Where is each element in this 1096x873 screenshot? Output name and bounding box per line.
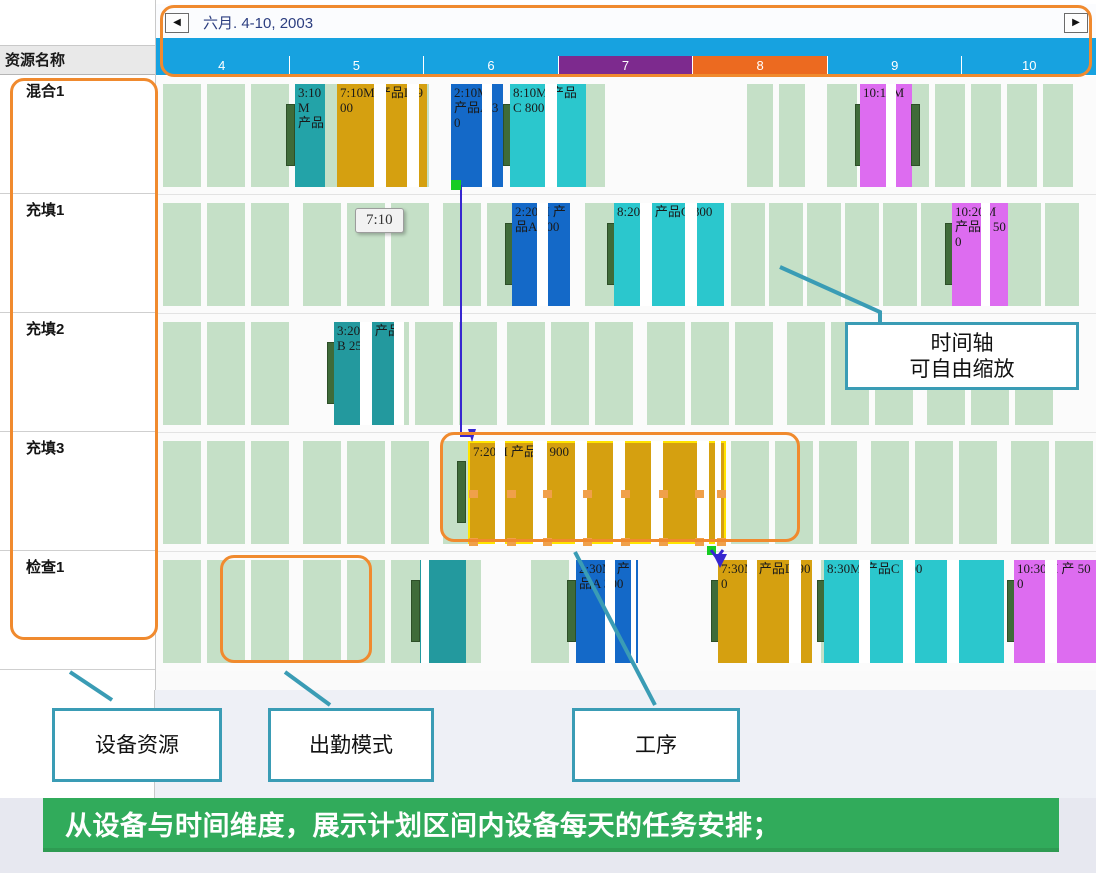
shift-bar bbox=[1043, 84, 1073, 187]
highlight-operation-task bbox=[440, 432, 800, 542]
shift-bar bbox=[769, 203, 803, 306]
shift-bar bbox=[531, 560, 569, 663]
task-label: 2:10M 产品A 30 bbox=[454, 85, 502, 130]
shift-bar bbox=[251, 84, 289, 187]
shift-bar bbox=[871, 441, 909, 544]
shift-bar bbox=[459, 322, 497, 425]
setup-marker bbox=[911, 104, 920, 166]
shift-bar bbox=[303, 203, 341, 306]
shift-bar bbox=[1007, 84, 1037, 187]
shift-bar bbox=[1045, 203, 1079, 306]
shift-bar bbox=[731, 203, 765, 306]
task-label: 8:30M 产品C 800 bbox=[827, 561, 1003, 576]
shift-bar bbox=[827, 84, 857, 187]
callout-attendance-note: 出勤模式 bbox=[268, 708, 434, 782]
summary-banner-text: 从设备与时间维度，展示计划区间内设备每天的任务安排； bbox=[65, 804, 780, 843]
summary-banner: 从设备与时间维度，展示计划区间内设备每天的任务安排； bbox=[43, 798, 1059, 848]
shift-bar bbox=[1007, 203, 1041, 306]
setup-marker bbox=[567, 580, 576, 642]
task-bar[interactable]: 10:20M 产品C 500 bbox=[952, 203, 1008, 306]
shift-bar bbox=[507, 322, 545, 425]
shift-bar bbox=[391, 441, 429, 544]
shift-bar bbox=[163, 322, 201, 425]
highlight-resource-column bbox=[10, 78, 158, 640]
shift-bar bbox=[551, 322, 589, 425]
time-tooltip: 7:10 bbox=[355, 208, 404, 233]
callout-operation-note: 工序 bbox=[572, 708, 740, 782]
task-bar[interactable]: 8:20M 产品C 800 bbox=[614, 203, 724, 306]
resource-column-header: 资源名称 bbox=[0, 45, 155, 75]
shift-bar bbox=[595, 322, 633, 425]
shift-bar bbox=[585, 84, 605, 187]
callout-timeline-line1: 时间轴 bbox=[931, 330, 994, 356]
shift-bar bbox=[303, 441, 341, 544]
shift-bar bbox=[415, 322, 453, 425]
shift-bar bbox=[207, 203, 245, 306]
shift-bar bbox=[163, 441, 201, 544]
shift-bar bbox=[163, 203, 201, 306]
shift-bar bbox=[251, 203, 289, 306]
summary-banner-base bbox=[43, 848, 1059, 852]
highlight-attendance-pattern bbox=[220, 555, 372, 663]
shift-bar bbox=[883, 203, 917, 306]
shift-bar bbox=[1011, 441, 1049, 544]
shift-bar bbox=[691, 322, 729, 425]
shift-bar bbox=[647, 322, 685, 425]
callout-timeline-note: 时间轴 可自由缩放 bbox=[845, 322, 1079, 390]
gantt-row-1[interactable]: 3:10M 产品 7:10M 产品D 900 2:10M 产品A 30 8:10… bbox=[155, 76, 1096, 195]
callout-timeline-line2: 可自由缩放 bbox=[910, 356, 1015, 382]
shift-bar bbox=[807, 203, 841, 306]
shift-bar bbox=[779, 84, 805, 187]
shift-bar bbox=[163, 560, 201, 663]
shift-bar bbox=[971, 84, 1001, 187]
shift-bar bbox=[747, 84, 773, 187]
setup-marker bbox=[286, 104, 295, 166]
shift-bar bbox=[959, 441, 997, 544]
task-bar[interactable]: 3:10M 产品 bbox=[295, 84, 325, 187]
shift-bar bbox=[207, 322, 245, 425]
shift-bar bbox=[787, 322, 825, 425]
shift-bar bbox=[1055, 441, 1093, 544]
shift-bar bbox=[443, 203, 481, 306]
shift-bar bbox=[735, 322, 773, 425]
shift-bar bbox=[347, 441, 385, 544]
shift-bar bbox=[163, 84, 201, 187]
shift-bar bbox=[915, 441, 953, 544]
gantt-row-2[interactable]: 2:20M 产品A 300 8:20M 产品C 800 10:20M 产品C 5… bbox=[155, 195, 1096, 314]
task-bar[interactable]: 2:10M 产品A 30 bbox=[451, 84, 503, 187]
shift-bar bbox=[207, 441, 245, 544]
highlight-timeline-header bbox=[160, 5, 1092, 77]
callout-resource-note: 设备资源 bbox=[52, 708, 222, 782]
shift-bar bbox=[207, 84, 245, 187]
shift-bar bbox=[845, 203, 879, 306]
shift-bar bbox=[819, 441, 857, 544]
shift-bar bbox=[251, 441, 289, 544]
task-label: 8:20M 产品C 800 bbox=[617, 204, 723, 219]
shift-bar bbox=[935, 84, 965, 187]
setup-marker bbox=[411, 580, 420, 642]
task-label: 3:10M 产品 bbox=[298, 85, 324, 130]
shift-bar bbox=[251, 322, 289, 425]
